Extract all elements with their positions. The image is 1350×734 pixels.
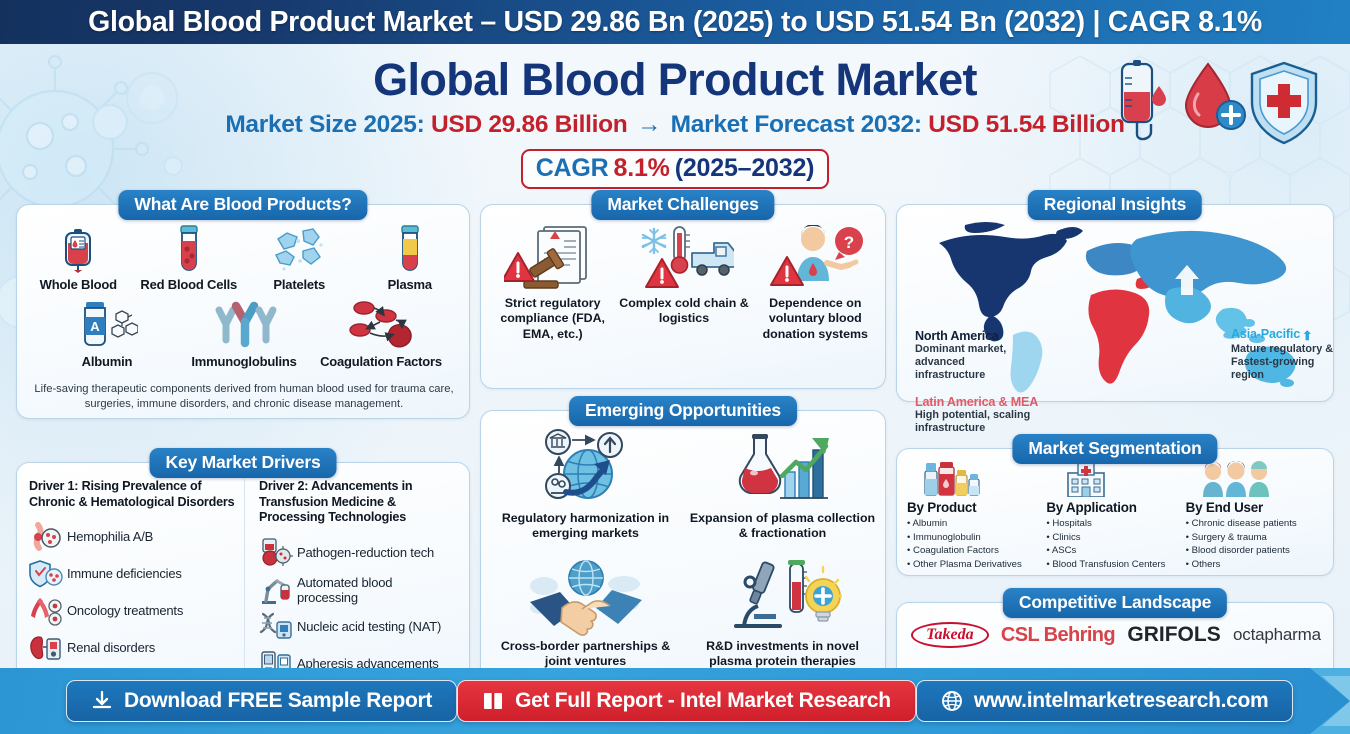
product-item[interactable]: Platelets (244, 221, 355, 292)
driver-item-label: Pathogen-reduction tech (297, 545, 434, 560)
cagr-label: CAGR (536, 154, 609, 183)
competitor-logo-row-1: Takeda CSL Behring GRIFOLS octapharma (905, 617, 1327, 653)
download-sample-report-label: Download FREE Sample Report (124, 689, 432, 713)
region-name: Latin America & MEA (915, 395, 1055, 409)
world-map: North America Dominant market, advanced … (905, 217, 1327, 393)
driver-list-item[interactable]: Renal disorders (29, 629, 236, 666)
driver-list-item[interactable]: Nucleic acid testing (NAT) (259, 608, 451, 645)
handshake-globe-icon (487, 555, 684, 637)
hero-medical-icons (1112, 58, 1322, 154)
blood-products-grid: Whole Blood Red Blood Cells (23, 221, 465, 369)
panel-market-challenges: Market Challenges (480, 204, 886, 389)
cagr-value: 8.1% (609, 154, 675, 183)
panel-title-blood-products: What Are Blood Products? (118, 190, 367, 220)
segmentation-list-item: Immunoglobulin (907, 531, 1046, 545)
download-sample-report-button[interactable]: Download FREE Sample Report (66, 680, 457, 722)
up-arrow-icon: ⬆ (1302, 328, 1312, 343)
segmentation-column-by-end-user: By End User Chronic disease patients Sur… (1186, 459, 1325, 571)
segmentation-list-item: Other Plasma Derivatives (907, 558, 1046, 572)
opportunity-item[interactable]: Regulatory harmonization in emerging mar… (487, 427, 684, 555)
hero-section: Global Blood Product Market Market Size … (0, 50, 1350, 192)
get-full-report-label: Get Full Report - Intel Market Research (515, 689, 891, 713)
svg-text:?: ? (844, 233, 854, 252)
segmentation-list: Albumin Immunoglobulin Coagulation Facto… (907, 517, 1046, 571)
driver-item-label: Apheresis advancements (297, 656, 439, 668)
market-size-label: Market Size 2025: (225, 111, 424, 138)
product-label: Plasma (355, 277, 466, 292)
globe-icon (941, 690, 963, 712)
red-test-tube-icon (134, 221, 245, 273)
svg-text:A: A (90, 319, 100, 334)
market-forecast-value: USD 51.54 Billion (928, 111, 1124, 138)
region-description: High potential, scaling infrastructure (915, 409, 1055, 435)
challenge-item[interactable]: ? Dependence on voluntary blood donation… (750, 223, 881, 342)
driver-item-label: Automated blood processing (297, 575, 451, 605)
logo-csl-behring[interactable]: CSL Behring (1001, 624, 1115, 647)
segmentation-heading: By Product (907, 500, 1046, 515)
kidney-dialysis-icon (29, 633, 63, 663)
segmentation-list-item: Others (1186, 558, 1325, 572)
segmentation-heading: By Application (1046, 500, 1185, 515)
driver-item-label: Hemophilia A/B (67, 529, 153, 544)
panel-regional-insights: Regional Insights (896, 204, 1334, 402)
challenge-item[interactable]: Strict regulatory compliance (FDA, EMA, … (487, 223, 618, 342)
apheresis-machine-icon (259, 649, 293, 668)
person-3 (1249, 461, 1269, 497)
logo-takeda[interactable]: Takeda (911, 622, 988, 648)
segmentation-column-by-application: By Application Hospitals Clinics ASCs Bl… (1046, 459, 1185, 571)
segmentation-list-item: Chronic disease patients (1186, 517, 1325, 531)
competitor-logo-row-2: KEDRION LFB Biotest BPL (905, 659, 1327, 668)
driver-column-1: Driver 1: Rising Prevalence of Chronic &… (29, 479, 244, 668)
joint-bleed-icon (29, 522, 63, 552)
albumin-vial-icon: A (38, 298, 175, 350)
segmentation-list: Chronic disease patients Surgery & traum… (1186, 517, 1325, 571)
cagr-badge: CAGR 8.1% (2025–2032) (521, 149, 829, 189)
driver-list-item[interactable]: Immune deficiencies (29, 555, 236, 592)
segmentation-list-item: Albumin (907, 517, 1046, 531)
segmentation-list-item: Blood Transfusion Centers (1046, 558, 1185, 572)
logo-grifols[interactable]: GRIFOLS (1127, 623, 1220, 647)
driver-heading: Driver 1: Rising Prevalence of Chronic &… (29, 479, 236, 510)
segmentation-list-item: Blood disorder patients (1186, 544, 1325, 558)
website-link-button[interactable]: www.intelmarketresearch.com (916, 680, 1294, 722)
region-description: Dominant market, advanced infrastructure (915, 343, 1019, 383)
segmentation-list-item: Coagulation Factors (907, 544, 1046, 558)
region-label-latin-america-mea: Latin America & MEA High potential, scal… (915, 395, 1055, 435)
opportunity-label: Cross-border partnerships & joint ventur… (487, 639, 684, 668)
globe-regulatory-icon (487, 427, 684, 509)
challenge-label: Complex cold chain & logistics (618, 296, 749, 327)
panel-market-segmentation: Market Segmentation (896, 448, 1334, 576)
driver-item-label: Renal disorders (67, 640, 155, 655)
panel-key-market-drivers: Key Market Drivers Driver 1: Rising Prev… (16, 462, 470, 668)
download-icon (91, 690, 113, 712)
region-name: Asia-Pacific⬆ (1231, 327, 1339, 343)
driver-heading: Driver 2: Advancements in Transfusion Me… (259, 479, 451, 526)
driver-item-label: Oncology treatments (67, 603, 183, 618)
gavel-document-warning-icon (487, 223, 618, 291)
footer-cta-bar: Download FREE Sample Report Get Full Rep… (0, 668, 1350, 734)
opportunities-grid: Regulatory harmonization in emerging mar… (487, 427, 881, 668)
panel-emerging-opportunities: Emerging Opportunities (480, 410, 886, 668)
website-link-label: www.intelmarketresearch.com (974, 689, 1269, 713)
panel-blood-products: What Are Blood Products? (16, 204, 470, 419)
opportunity-item[interactable]: R&D investments in novel plasma protein … (684, 555, 881, 668)
cold-chain-truck-icon (618, 223, 749, 291)
panel-title-competitive-landscape: Competitive Landscape (1003, 588, 1227, 618)
challenge-item[interactable]: Complex cold chain & logistics (618, 223, 749, 342)
panel-title-emerging-opportunities: Emerging Opportunities (569, 396, 797, 426)
people-icon (1186, 459, 1325, 497)
segmentation-grid: By Product Albumin Immunoglobulin Coagul… (907, 459, 1325, 571)
blood-products-note: Life-saving therapeutic components deriv… (27, 382, 461, 412)
microscope-bulb-icon (684, 555, 881, 637)
market-size-value: USD 29.86 Billion (431, 111, 627, 138)
segmentation-list-item: Clinics (1046, 531, 1185, 545)
product-item[interactable]: Whole Blood (23, 221, 134, 292)
dna-test-icon (259, 612, 293, 642)
segmentation-list-item: Surgery & trauma (1186, 531, 1325, 545)
segmentation-list-item: Hospitals (1046, 517, 1185, 531)
vials-icon (907, 459, 1046, 497)
product-item[interactable]: Coagulation Factors (313, 298, 450, 369)
book-icon (482, 690, 504, 712)
product-label: Red Blood Cells (134, 277, 245, 292)
challenges-grid: Strict regulatory compliance (FDA, EMA, … (487, 223, 881, 342)
top-header-bar: Global Blood Product Market – USD 29.86 … (0, 0, 1350, 44)
product-item[interactable]: A Albumin (38, 298, 175, 369)
region-description: Mature regulatory & Fastest-growing regi… (1231, 343, 1339, 383)
product-label: Coagulation Factors (313, 354, 450, 369)
driver-list-item[interactable]: Oncology treatments (29, 592, 236, 629)
flask-growth-chart-icon (684, 427, 881, 509)
region-north-america (939, 234, 1067, 317)
hospital-icon (1046, 459, 1185, 497)
opportunity-item[interactable]: Cross-border partnerships & joint ventur… (487, 555, 684, 668)
plasma-tube-icon (355, 221, 466, 273)
panel-competitive-landscape: Competitive Landscape Takeda CSL Behring… (896, 602, 1334, 668)
region-asia (1130, 231, 1286, 298)
robot-arm-icon (259, 575, 293, 605)
driver-list-item[interactable]: Automated blood processing (259, 571, 451, 608)
region-label-north-america: North America Dominant market, advanced … (915, 329, 1019, 383)
challenge-label: Dependence on voluntary blood donation s… (750, 296, 881, 342)
panel-title-market-segmentation: Market Segmentation (1012, 434, 1217, 464)
driver-column-2: Driver 2: Advancements in Transfusion Me… (244, 479, 459, 668)
product-item[interactable]: Plasma (355, 221, 466, 292)
panel-title-regional-insights: Regional Insights (1028, 190, 1202, 220)
driver-list-item[interactable]: Hemophilia A/B (29, 518, 236, 555)
arrow-right-icon: → (634, 111, 664, 138)
coagulation-icon (313, 298, 450, 350)
blood-drop-plus-icon (1186, 64, 1245, 129)
product-label: Platelets (244, 277, 355, 292)
driver-item-label: Immune deficiencies (67, 566, 182, 581)
product-item[interactable]: Red Blood Cells (134, 221, 245, 292)
region-africa-mea (1088, 289, 1149, 383)
person-2 (1226, 461, 1246, 497)
logo-octapharma[interactable]: octapharma (1233, 625, 1321, 645)
market-forecast-label: Market Forecast 2032: (671, 111, 922, 138)
top-bar-title: Global Blood Product Market – USD 29.86 … (88, 6, 1262, 39)
donor-question-icon: ? (750, 223, 881, 291)
antibody-icon (175, 298, 312, 350)
region-name: North America (915, 329, 1019, 343)
person-1 (1203, 462, 1223, 497)
iv-blood-bag-icon (1122, 60, 1166, 139)
platelets-icon (244, 221, 355, 273)
panel-title-key-market-drivers: Key Market Drivers (150, 448, 337, 478)
panel-title-market-challenges: Market Challenges (591, 190, 774, 220)
get-full-report-button[interactable]: Get Full Report - Intel Market Research (457, 680, 916, 722)
product-item[interactable]: Immunoglobulins (175, 298, 312, 369)
shield-immune-icon (29, 559, 63, 589)
segmentation-list: Hospitals Clinics ASCs Blood Transfusion… (1046, 517, 1185, 571)
driver-list-item[interactable]: Pathogen-reduction tech (259, 534, 451, 571)
segmentation-column-by-product: By Product Albumin Immunoglobulin Coagul… (907, 459, 1046, 571)
opportunity-label: Expansion of plasma collection & fractio… (684, 511, 881, 542)
opportunity-label: Regulatory harmonization in emerging mar… (487, 511, 684, 542)
blood-bag-icon (23, 221, 134, 273)
segmentation-list-item: ASCs (1046, 544, 1185, 558)
driver-item-label: Nucleic acid testing (NAT) (297, 619, 441, 634)
product-label: Immunoglobulins (175, 354, 312, 369)
product-label: Albumin (38, 354, 175, 369)
pathogen-reduction-icon (259, 538, 293, 568)
opportunity-label: R&D investments in novel plasma protein … (684, 639, 881, 668)
product-label: Whole Blood (23, 277, 134, 292)
cancer-ribbon-icon (29, 596, 63, 626)
region-label-asia-pacific: Asia-Pacific⬆ Mature regulatory & Fastes… (1231, 327, 1339, 383)
drivers-columns: Driver 1: Rising Prevalence of Chronic &… (29, 479, 459, 668)
cagr-period: (2025–2032) (675, 154, 815, 183)
segmentation-heading: By End User (1186, 500, 1325, 515)
infographic-stage: Global Blood Product Market Market Size … (0, 44, 1350, 668)
medical-shield-icon (1252, 63, 1316, 143)
driver-list-item[interactable]: Apheresis advancements (259, 645, 451, 668)
opportunity-item[interactable]: Expansion of plasma collection & fractio… (684, 427, 881, 555)
challenge-label: Strict regulatory compliance (FDA, EMA, … (487, 296, 618, 342)
